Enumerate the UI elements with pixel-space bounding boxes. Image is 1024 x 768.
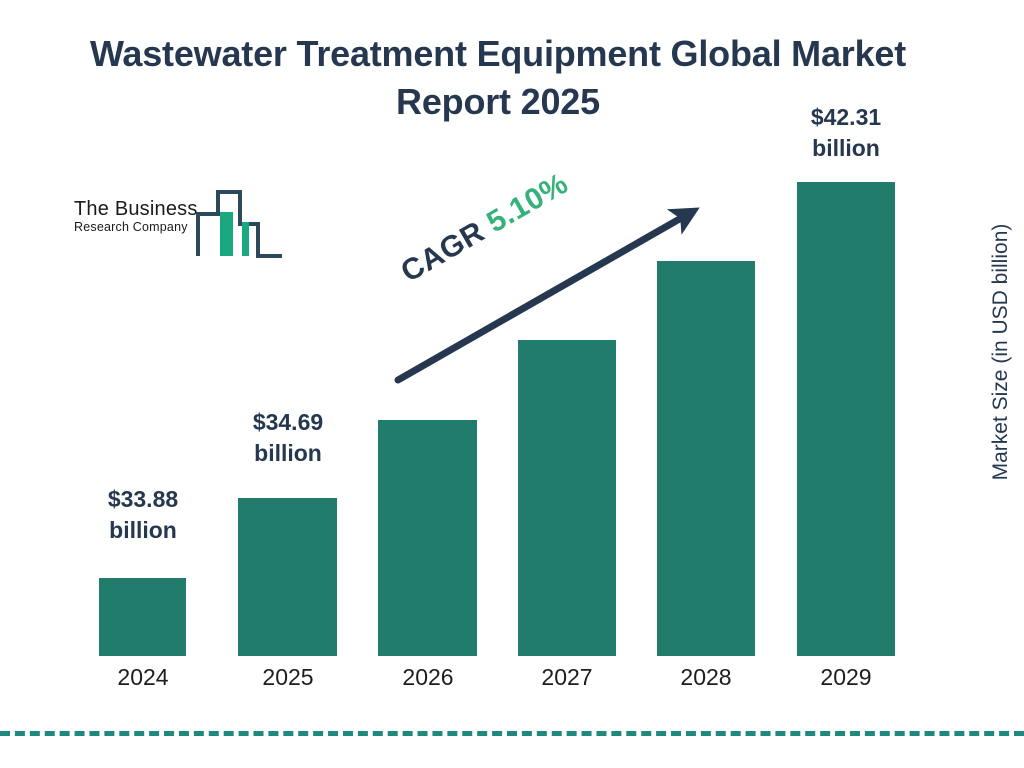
bar-2024 [99, 578, 186, 656]
chart-canvas: Wastewater Treatment Equipment Global Ma… [0, 0, 1024, 768]
bar-2027 [518, 340, 616, 656]
x-tick-2027: 2027 [506, 662, 628, 692]
bar-2026 [378, 420, 477, 656]
bar-2029 [797, 182, 895, 656]
bar-2028 [657, 261, 755, 656]
cagr-value: 5.10% [481, 167, 573, 239]
bar-value-2024: $33.88 billion [82, 484, 204, 546]
cagr-annotation: CAGR 5.10% [396, 167, 575, 290]
footer-divider [0, 731, 1024, 736]
bar-2025 [238, 498, 337, 656]
x-tick-2028: 2028 [645, 662, 767, 692]
x-tick-2025: 2025 [227, 662, 349, 692]
cagr-label: CAGR [396, 215, 491, 289]
x-tick-2024: 2024 [82, 662, 204, 692]
bar-value-2029: $42.31 billion [785, 102, 907, 164]
x-tick-2026: 2026 [367, 662, 489, 692]
x-tick-2029: 2029 [785, 662, 907, 692]
y-axis-title: Market Size (in USD billion) [984, 192, 1018, 512]
bar-chart-plot: $33.88 billion $34.69 billion $42.31 bil… [0, 0, 1024, 768]
bar-value-2025: $34.69 billion [227, 407, 349, 469]
